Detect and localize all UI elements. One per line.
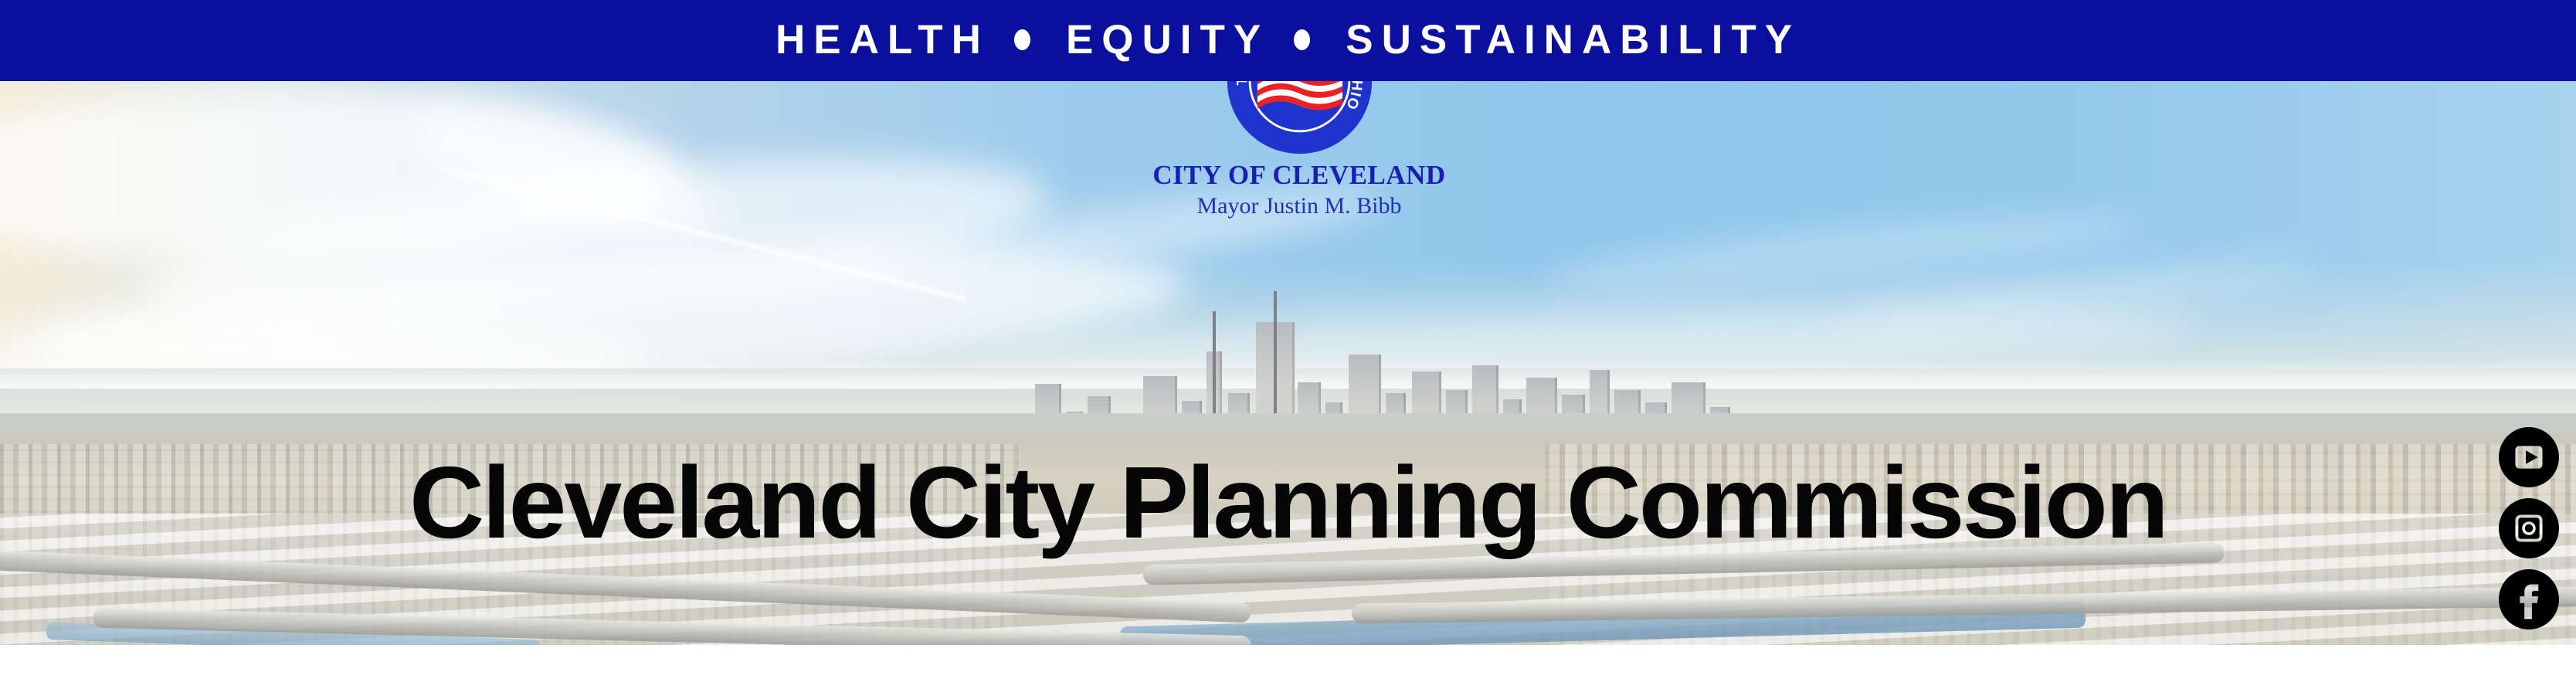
bottom-white-strip: [0, 645, 2576, 682]
youtube-icon[interactable]: [2499, 427, 2559, 487]
instagram-icon[interactable]: [2499, 498, 2559, 558]
tagline-word-equity: EQUITY: [1066, 19, 1269, 60]
social-links: [2497, 427, 2561, 629]
tagline-banner: HEALTH EQUITY SUSTAINABILITY: [0, 0, 2576, 81]
bullet-dot-icon: [1294, 29, 1310, 50]
bullet-dot-icon: [1014, 29, 1030, 50]
mayor-name: Mayor Justin M. Bibb: [1137, 193, 1461, 220]
page-root: HEALTH EQUITY SUSTAINABILITY: [0, 0, 2576, 682]
page-title: Cleveland City Planning Commission: [0, 452, 2576, 554]
tagline-word-sustainability: SUSTAINABILITY: [1346, 19, 1800, 60]
tagline-banner-inner: HEALTH EQUITY SUSTAINABILITY: [776, 19, 1800, 60]
organization-name: CITY OF CLEVELAND: [1137, 161, 1461, 190]
facebook-icon[interactable]: [2499, 569, 2559, 629]
tagline-word-health: HEALTH: [776, 19, 989, 60]
